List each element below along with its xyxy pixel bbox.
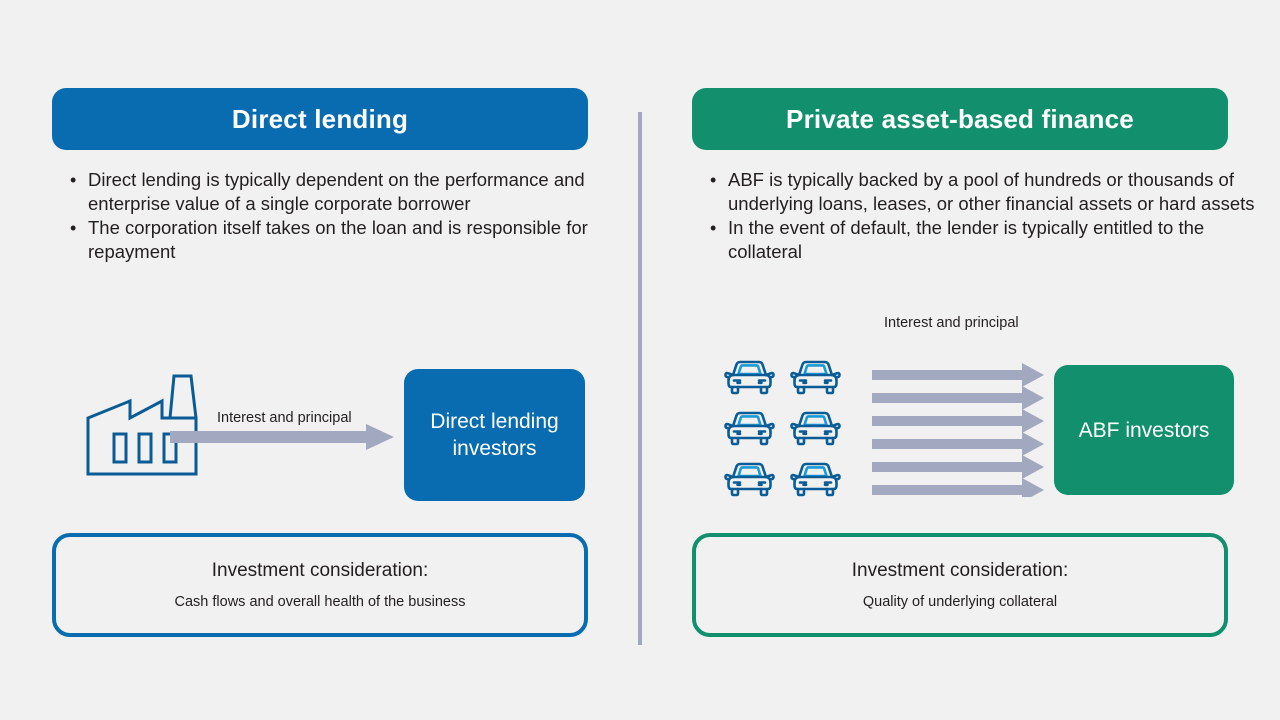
flow-arrow-stack [872, 362, 1044, 502]
panel-divider [638, 112, 642, 645]
abf-investors-box: ABF investors [1054, 365, 1234, 495]
bullet-item: ABF is typically backed by a pool of hun… [702, 168, 1280, 216]
panel-private-abf: Private asset-based finance ABF is typic… [692, 0, 1228, 720]
car-cell [722, 403, 788, 454]
flow-arrow [170, 424, 394, 455]
car-cell [722, 454, 788, 505]
investment-consideration-title: Investment consideration: [852, 560, 1069, 582]
bullet-item: In the event of default, the lender is t… [702, 216, 1280, 264]
panel-title-direct-lending: Direct lending [232, 104, 408, 135]
investment-consideration-title: Investment consideration: [212, 560, 429, 582]
slide-canvas: Direct lending Direct lending is typical… [0, 0, 1280, 720]
bullet-item: Direct lending is typically dependent on… [62, 168, 640, 216]
car-cell [788, 454, 854, 505]
investment-consideration-detail: Cash flows and overall health of the bus… [175, 594, 466, 610]
direct-lending-investors-box: Direct lending investors [404, 369, 585, 501]
panel-header-direct-lending: Direct lending [52, 88, 588, 150]
bullet-list-direct-lending: Direct lending is typically dependent on… [62, 168, 640, 264]
car-cell [788, 403, 854, 454]
car-cell [788, 352, 854, 403]
direct-lending-investors-label: Direct lending investors [416, 408, 573, 462]
investment-consideration-detail: Quality of underlying collateral [863, 594, 1057, 610]
investment-consideration-box-left: Investment consideration: Cash flows and… [52, 533, 588, 637]
bullet-item: The corporation itself takes on the loan… [62, 216, 640, 264]
bullet-list-private-abf: ABF is typically backed by a pool of hun… [702, 168, 1280, 264]
collateral-car-grid [722, 352, 854, 505]
panel-title-private-abf: Private asset-based finance [786, 104, 1134, 135]
abf-investors-label: ABF investors [1079, 417, 1210, 444]
panel-direct-lending: Direct lending Direct lending is typical… [52, 0, 588, 720]
panel-header-private-abf: Private asset-based finance [692, 88, 1228, 150]
investment-consideration-box-right: Investment consideration: Quality of und… [692, 533, 1228, 637]
flow-label-interest-principal: Interest and principal [884, 315, 1019, 331]
car-cell [722, 352, 788, 403]
